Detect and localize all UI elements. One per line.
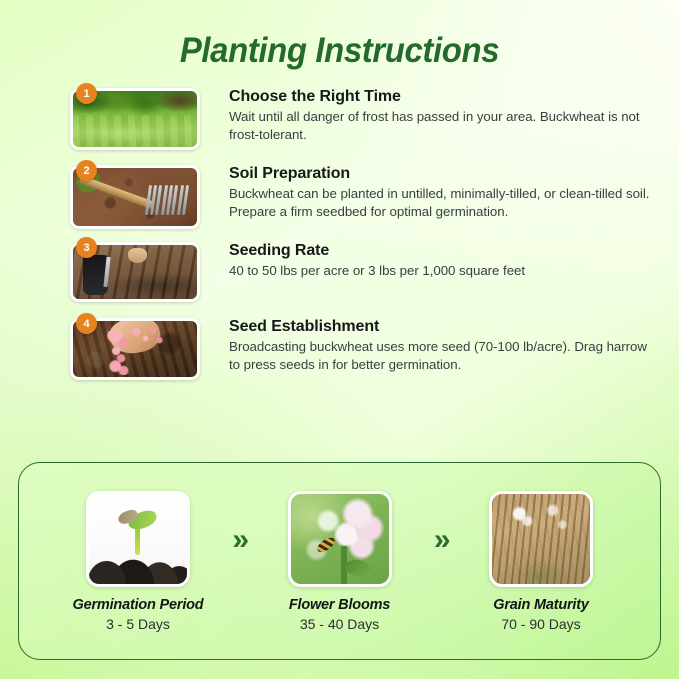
hand-shape <box>128 248 148 263</box>
page-title: Planting Instructions <box>20 0 658 68</box>
seedling-sprout-photo <box>86 491 190 587</box>
planting-steps-list: 1 Choose the Right Time Wait until all d… <box>0 88 679 380</box>
seed-stream-shape <box>105 331 137 375</box>
step-item: 3 Seeding Rate 40 to 50 lbs per acre or … <box>70 242 657 302</box>
timeline-stage-days: 70 - 90 Days <box>466 616 616 632</box>
timeline-stage: Flower Blooms 35 - 40 Days <box>265 491 415 632</box>
chevron-right-icon: » <box>434 525 447 555</box>
step-number-badge: 4 <box>76 313 97 334</box>
step-number-badge: 1 <box>76 83 97 104</box>
step-thumbnail-wrap: 2 <box>70 165 200 229</box>
step-thumbnail-wrap: 4 <box>70 318 200 380</box>
step-number-badge: 2 <box>76 160 97 181</box>
step-title: Soil Preparation <box>229 165 657 183</box>
step-item: 1 Choose the Right Time Wait until all d… <box>70 88 657 150</box>
timeline-stage-days: 3 - 5 Days <box>63 616 213 632</box>
mature-grain-illustration <box>492 494 590 584</box>
timeline-stage-days: 35 - 40 Days <box>265 616 415 632</box>
step-text: Choose the Right Time Wait until all dan… <box>200 88 657 144</box>
sprout-illustration <box>89 494 187 584</box>
bee-shape <box>315 536 337 555</box>
step-body: Wait until all danger of frost has passe… <box>229 108 657 144</box>
growth-timeline-panel: Germination Period 3 - 5 Days » Flower B… <box>18 462 661 660</box>
chevron-right-icon: » <box>232 525 245 555</box>
step-item: 2 Soil Preparation Buckwheat can be plan… <box>70 165 657 229</box>
leaf-shape <box>343 557 372 580</box>
step-body: Broadcasting buckwheat uses more seed (7… <box>229 338 657 374</box>
step-text: Seeding Rate 40 to 50 lbs per acre or 3 … <box>200 242 657 280</box>
timeline-stage: Germination Period 3 - 5 Days <box>63 491 213 632</box>
timeline-stage-label: Flower Blooms <box>265 597 415 613</box>
timeline-stage-label: Germination Period <box>63 597 213 613</box>
step-item: 4 Seed Establishment Broadcasting buckwh… <box>70 318 657 380</box>
step-title: Seed Establishment <box>229 318 657 336</box>
mature-buckwheat-field-photo <box>489 491 593 587</box>
step-title: Choose the Right Time <box>229 88 657 106</box>
timeline-stage: Grain Maturity 70 - 90 Days <box>466 491 616 632</box>
step-title: Seeding Rate <box>229 242 657 260</box>
rake-head-shape <box>145 185 190 215</box>
step-text: Soil Preparation Buckwheat can be plante… <box>200 165 657 221</box>
step-body: Buckwheat can be planted in untilled, mi… <box>229 185 657 221</box>
step-text: Seed Establishment Broadcasting buckwhea… <box>200 318 657 374</box>
step-thumbnail-wrap: 1 <box>70 88 200 150</box>
step-body: 40 to 50 lbs per acre or 3 lbs per 1,000… <box>229 262 657 280</box>
buckwheat-flowers-photo <box>288 491 392 587</box>
step-thumbnail-wrap: 3 <box>70 242 200 302</box>
bloom-illustration <box>291 494 389 584</box>
timeline-stage-label: Grain Maturity <box>466 597 616 613</box>
step-number-badge: 3 <box>76 237 97 258</box>
